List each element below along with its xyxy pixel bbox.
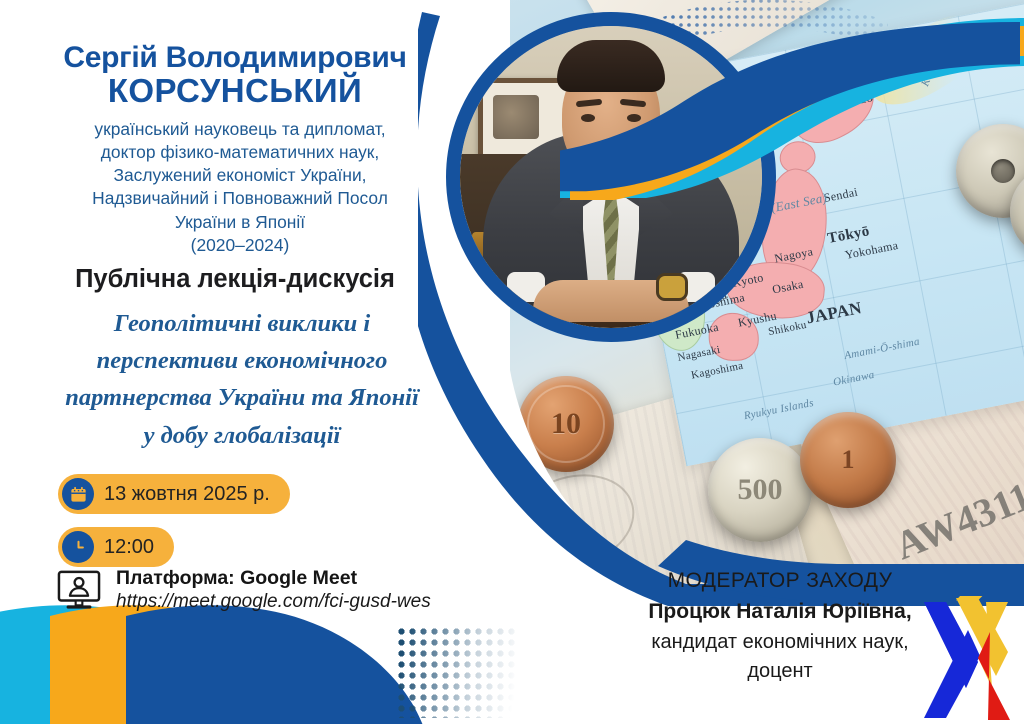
moderator-label: МОДЕРАТОР ЗАХОДУ <box>600 566 960 596</box>
event-kind: Публічна лекція-дискусія <box>0 265 470 294</box>
moderator-degree: кандидат економічних наук, <box>600 628 960 657</box>
speaker-description: український науковець та дипломат, докто… <box>12 118 468 257</box>
poster-canvas: 10000 AW431133 Sapporo Hokkaidō <box>0 0 1024 724</box>
event-time-badge: 12:00 <box>58 527 174 567</box>
moderator-block: МОДЕРАТОР ЗАХОДУ Процюк Наталія Юріївна,… <box>600 566 960 686</box>
speaker-description-line: доктор фізико-математичних наук, <box>12 141 468 164</box>
clock-icon <box>62 531 94 563</box>
video-meeting-icon <box>56 570 102 612</box>
event-title-line: Геополітичні виклики і <box>18 305 466 342</box>
left-content-column: Сергій Володимирович КОРСУНСЬКИЙ українс… <box>0 0 480 724</box>
coin-1-yen: 1 <box>800 412 896 508</box>
coin-value: 500 <box>708 438 812 542</box>
speaker-name-line2: КОРСУНСЬКИЙ <box>0 74 470 109</box>
speaker-description-line: Заслужений економіст України, <box>12 164 468 187</box>
speaker-name-line1: Сергій Володимирович <box>0 42 470 74</box>
event-title: Геополітичні виклики і перспективи еконо… <box>18 305 466 454</box>
coin-10-yen: 10 <box>518 376 614 472</box>
event-title-line: у добу глобалізації <box>18 417 466 454</box>
speaker-name: Сергій Володимирович КОРСУНСЬКИЙ <box>0 42 470 109</box>
portrait-eye-right <box>627 114 641 122</box>
speaker-description-line: Надзвичайний і Повноважний Посол <box>12 187 468 210</box>
speaker-description-line: України в Японії <box>12 211 468 234</box>
event-date-badge: 13 жовтня 2025 р. <box>58 474 290 514</box>
coin-hole <box>991 159 1015 183</box>
platform-name: Платформа: Google Meet <box>116 566 431 590</box>
portrait-wristwatch <box>659 276 685 298</box>
platform-link[interactable]: https://meet.google.com/fci-gusd-wes <box>116 590 431 615</box>
portrait-mouth <box>595 151 627 156</box>
speaker-description-years: (2020–2024) <box>12 234 468 257</box>
event-time-text: 12:00 <box>104 536 154 559</box>
portrait-eye-left <box>581 114 595 122</box>
calendar-icon <box>62 478 94 510</box>
coin-value: 10 <box>518 376 614 472</box>
moderator-name: Процюк Наталія Юріївна, <box>600 596 960 628</box>
speaker-description-line: український науковець та дипломат, <box>12 118 468 141</box>
event-date-text: 13 жовтня 2025 р. <box>104 483 270 506</box>
coin-value: 1 <box>800 412 896 508</box>
coin-500-yen: 500 <box>708 438 812 542</box>
event-title-line: партнерства України та Японії <box>18 379 466 416</box>
chevron-logo-icon <box>912 596 1020 724</box>
event-title-line: перспективи економічного <box>18 342 466 379</box>
moderator-position: доцент <box>600 657 960 686</box>
event-platform: Платформа: Google Meet https://meet.goog… <box>56 566 431 615</box>
banknote-ornament <box>501 461 645 582</box>
speaker-portrait <box>446 12 776 342</box>
portrait-hair <box>557 40 665 92</box>
banknote-serial: AW431133 <box>888 457 1024 569</box>
